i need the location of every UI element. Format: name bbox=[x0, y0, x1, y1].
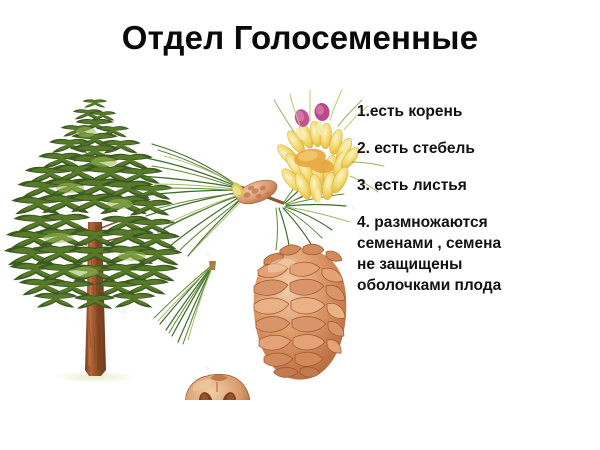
mature-cone bbox=[254, 244, 347, 379]
svg-text:10: 10 bbox=[120, 310, 126, 316]
list-item-seeds-line-4: оболочками плода bbox=[357, 278, 572, 294]
svg-text:4: 4 bbox=[226, 184, 229, 190]
page-title: Отдел Голосеменные bbox=[0, 19, 600, 57]
svg-text:8: 8 bbox=[206, 366, 209, 372]
fascicle-sheath bbox=[209, 261, 216, 270]
list-item-stem-line-1: 2. есть стебель bbox=[357, 141, 572, 157]
list-item-stem: 2. есть стебель bbox=[357, 141, 572, 157]
list-item-root-line-1: 1.есть корень bbox=[357, 104, 572, 120]
list-item-seeds-line-1: 4. размножаются bbox=[357, 215, 572, 231]
list-item-seeds-line-3: не защищены bbox=[357, 257, 572, 273]
svg-text:2: 2 bbox=[330, 104, 333, 110]
gymnosperm-feature-list: 1.есть корень 2. есть стебель 3. есть ли… bbox=[357, 104, 572, 299]
svg-text:5: 5 bbox=[352, 206, 355, 212]
svg-text:6: 6 bbox=[206, 252, 209, 258]
pollen-cone-scales bbox=[274, 120, 362, 203]
cone-scale-with-seeds bbox=[186, 374, 250, 400]
svg-text:7: 7 bbox=[300, 238, 303, 244]
list-item-seeds-line-2: семенами , семена bbox=[357, 236, 572, 252]
pine-tree-illustration bbox=[4, 99, 182, 383]
slide-root: Отдел Голосеменные bbox=[0, 0, 600, 450]
list-item-root: 1.есть корень bbox=[357, 104, 572, 120]
svg-text:1: 1 bbox=[200, 178, 203, 184]
list-item-seeds: 4. размножаются семенами , семена не защ… bbox=[357, 215, 572, 293]
list-item-leaves: 3. есть листья bbox=[357, 178, 572, 194]
needle-fascicle bbox=[154, 261, 216, 344]
list-item-leaves-line-1: 3. есть листья bbox=[357, 178, 572, 194]
